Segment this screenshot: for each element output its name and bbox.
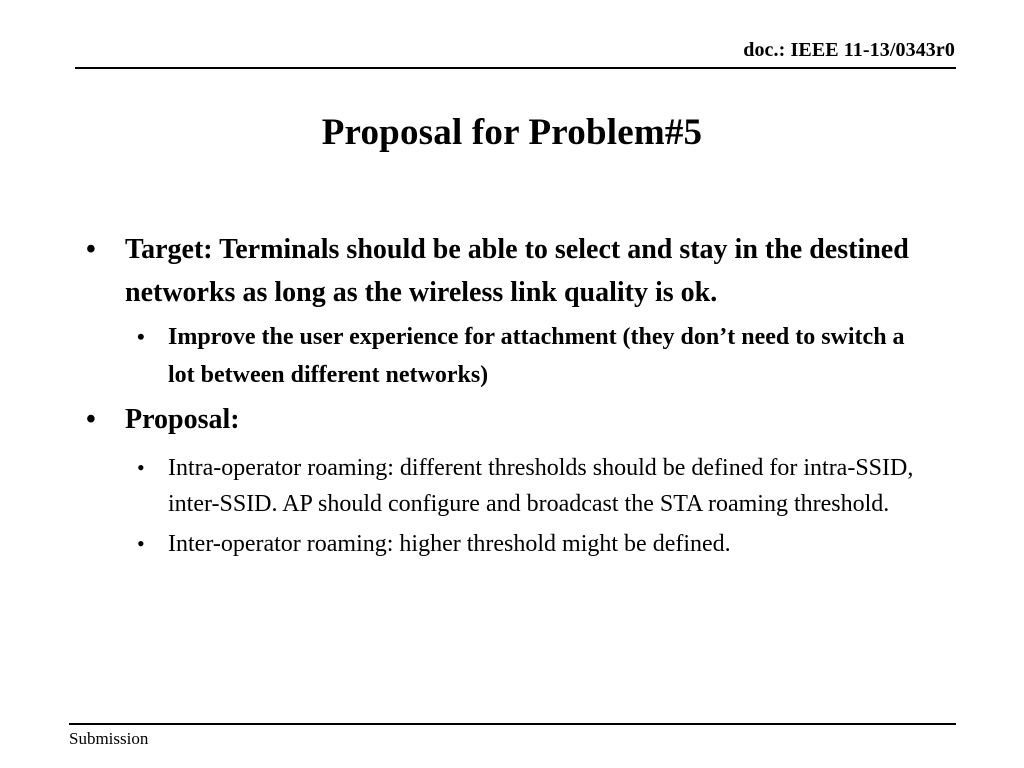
bullet-marker-icon: •: [137, 450, 145, 486]
bullet-item-inter-operator-roaming: • Inter-operator roaming: higher thresho…: [0, 526, 1024, 562]
slide-body: • Target: Terminals should be able to se…: [0, 228, 1024, 562]
bullet-text: Improve the user experience for attachme…: [168, 324, 905, 388]
footer-divider: [69, 723, 956, 725]
spacer: [0, 441, 1024, 450]
bullet-text: Proposal:: [125, 404, 240, 435]
bullet-item-improve-user-experience: • Improve the user experience for attach…: [0, 318, 1024, 394]
slide: doc.: IEEE 11-13/0343r0 Proposal for Pro…: [0, 0, 1024, 768]
header-divider: [75, 67, 956, 69]
bullet-text: Intra-operator roaming: different thresh…: [168, 455, 913, 517]
bullet-item-target: • Target: Terminals should be able to se…: [0, 228, 1024, 314]
bullet-marker-icon: •: [86, 398, 96, 441]
document-reference: doc.: IEEE 11-13/0343r0: [743, 38, 955, 63]
bullet-text: Target: Terminals should be able to sele…: [125, 234, 909, 308]
bullet-item-proposal: • Proposal:: [0, 398, 1024, 441]
bullet-marker-icon: •: [86, 228, 96, 271]
bullet-item-intra-operator-roaming: • Intra-operator roaming: different thre…: [0, 450, 1024, 522]
bullet-marker-icon: •: [137, 318, 145, 356]
bullet-text: Inter-operator roaming: higher threshold…: [168, 531, 731, 557]
footer-submission-label: Submission: [69, 728, 148, 750]
bullet-marker-icon: •: [137, 526, 145, 562]
page-title: Proposal for Problem#5: [62, 110, 962, 156]
